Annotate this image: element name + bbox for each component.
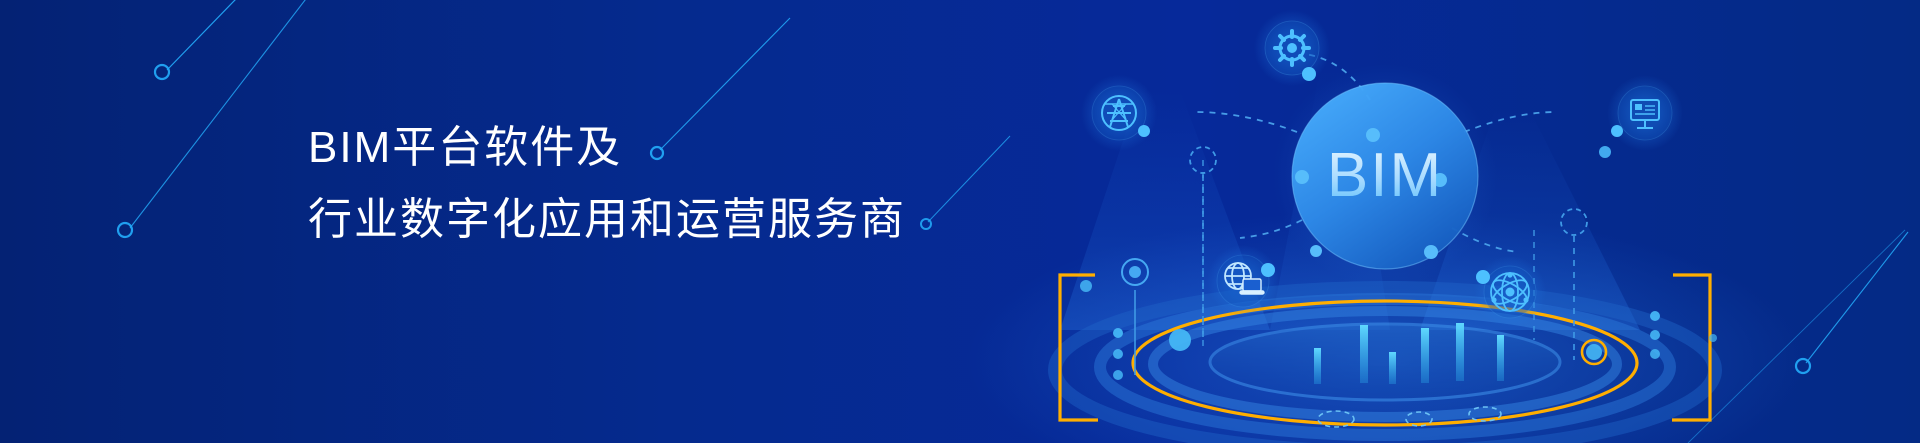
node-globe-laptop — [1207, 245, 1279, 317]
data-bar-6 — [1497, 335, 1504, 381]
floating-dot-3 — [1586, 344, 1602, 360]
hero-banner: BIM平台软件及 行业数字化应用和运营服务商 — [0, 0, 1920, 443]
bim-center-label: BIM — [1327, 141, 1443, 210]
floating-dot-2 — [1169, 329, 1191, 351]
globe-connector-dot — [1261, 263, 1275, 277]
cluster-dot-4 — [1650, 311, 1660, 321]
sphere-node-top — [1366, 128, 1380, 142]
data-bar-3 — [1389, 352, 1396, 384]
node-monitor — [1599, 75, 1683, 158]
node-gear — [1254, 10, 1330, 86]
sphere-node-left — [1295, 170, 1309, 184]
data-bar-5 — [1456, 323, 1464, 381]
gear-connector-dot — [1302, 67, 1316, 81]
sphere-node-bottom-right — [1424, 245, 1438, 259]
headline-line-1: BIM平台软件及 — [308, 112, 1008, 184]
data-bar-4 — [1421, 328, 1429, 383]
monitor-node-disc — [1618, 86, 1672, 140]
connector-to-tower — [1196, 112, 1297, 132]
data-bar-2 — [1360, 325, 1368, 383]
network-connector-dot — [1476, 270, 1490, 284]
monitor-connector-dot — [1611, 125, 1623, 137]
tower-connector-dot — [1138, 125, 1150, 137]
node-network — [1474, 256, 1546, 328]
cluster-dot-6 — [1650, 349, 1660, 359]
headline-block: BIM平台软件及 行业数字化应用和运营服务商 — [308, 112, 1008, 256]
headline-line-2: 行业数字化应用和运营服务商 — [308, 184, 1008, 256]
data-bar-1 — [1314, 348, 1321, 384]
cluster-dot-3 — [1113, 370, 1123, 380]
cluster-dot-5 — [1650, 330, 1660, 340]
cluster-dot-1 — [1113, 328, 1123, 338]
stage-core-disc — [1210, 324, 1560, 400]
sphere-node-bottom-left — [1310, 245, 1322, 257]
floating-dot-1 — [1080, 280, 1092, 292]
node-power-tower — [1081, 75, 1157, 151]
floating-dot-4 — [1709, 334, 1717, 342]
cluster-dot-2 — [1113, 349, 1123, 359]
right-pin-ring — [1561, 209, 1587, 235]
gear-icon — [1275, 31, 1309, 65]
antenna-dot — [1129, 266, 1141, 278]
monitor-satellite-dot — [1599, 146, 1611, 158]
stage-platform — [1055, 288, 1715, 443]
